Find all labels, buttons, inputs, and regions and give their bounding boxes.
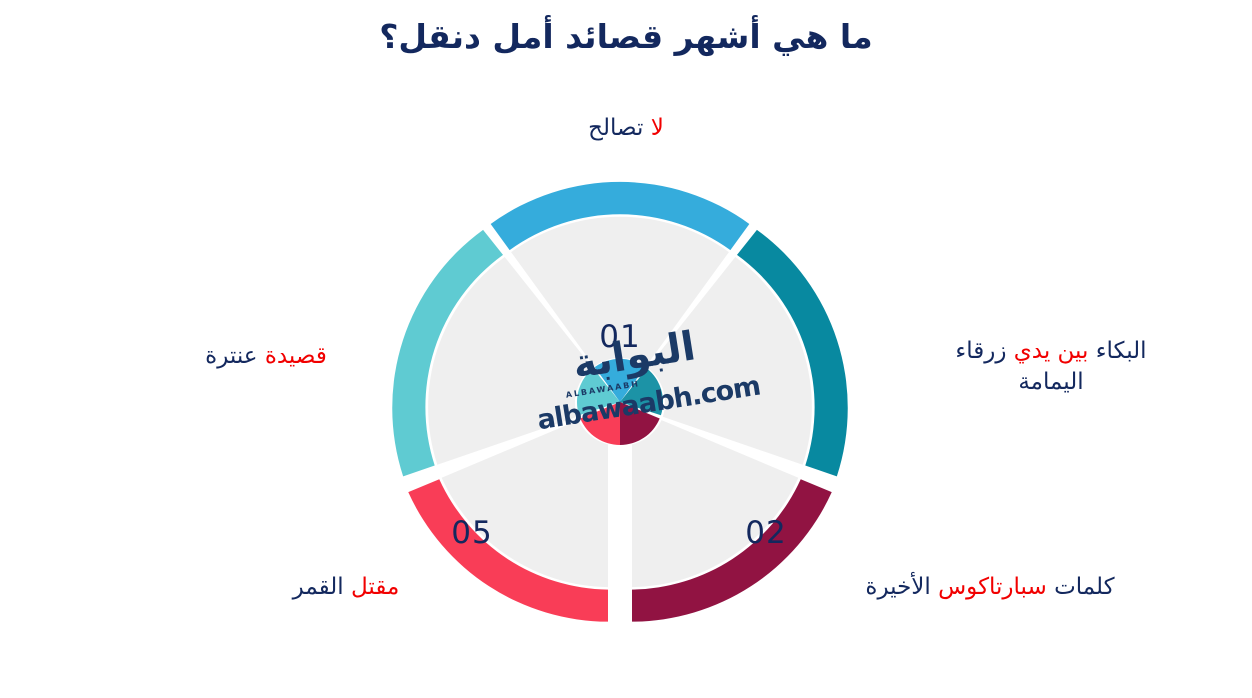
- chart-label-02: البكاء بين يدي زرقاء اليمامة: [908, 336, 1194, 398]
- chart-label-03-highlight: سبارتاكوس: [938, 574, 1047, 600]
- chart-label-05-highlight: قصيدة: [265, 343, 327, 369]
- chart-label-05: قصيدة عنترة: [150, 341, 382, 372]
- segment-number-05: 05: [451, 515, 492, 551]
- inner-pie: [577, 359, 663, 445]
- chart-label-04-highlight: مقتل: [351, 574, 399, 600]
- chart-label-02-lead: البكاء: [1088, 338, 1146, 364]
- chart-label-03: كلمات سبارتاكوس الأخيرة: [818, 572, 1162, 603]
- chart-label-01: لا تصالح: [476, 113, 776, 144]
- page-title: ما هي أشهر قصائد أمل دنقل؟: [0, 16, 1252, 57]
- chart-label-04: مقتل القمر: [248, 572, 444, 603]
- chart-label-03-lead: كلمات: [1047, 574, 1115, 600]
- chart-label-05-rest: عنترة: [205, 343, 265, 369]
- chart-label-02-highlight: بين يدي: [1014, 338, 1089, 364]
- infographic-canvas: ما هي أشهر قصائد أمل دنقل؟: [0, 0, 1252, 698]
- chart-label-03-rest: الأخيرة: [865, 574, 938, 600]
- chart-label-01-rest: تصالح: [588, 115, 651, 141]
- segment-number-02: 02: [745, 515, 786, 551]
- segment-number-01: 01: [599, 319, 640, 355]
- chart-label-04-rest: القمر: [293, 574, 351, 600]
- chart-label-01-highlight: لا: [651, 115, 664, 141]
